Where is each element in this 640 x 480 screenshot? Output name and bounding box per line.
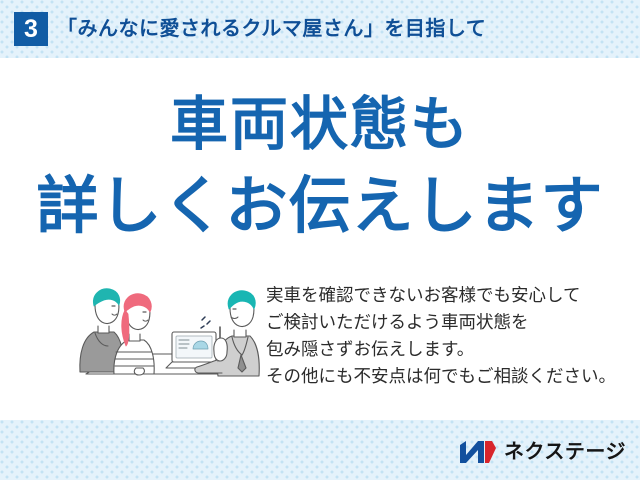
body-copy-line-1: 実車を確認できないお客様でも安心して bbox=[266, 282, 616, 309]
body-copy-line-3: 包み隠さずお伝えします。 bbox=[266, 336, 616, 363]
body-copy-line-2: ご検討いただけるよう車両状態を bbox=[266, 309, 616, 336]
section-number-badge: 3 bbox=[14, 12, 48, 46]
headline: 車両状態も 詳しくお伝えします bbox=[0, 96, 640, 238]
body-copy: 実車を確認できないお客様でも安心して ご検討いただけるよう車両状態を 包み隠さず… bbox=[266, 282, 616, 390]
section-title: 「みんなに愛されるクルマ屋さん」を目指して bbox=[57, 14, 486, 44]
body-copy-line-4: その他にも不安点は何でもご相談ください。 bbox=[266, 363, 616, 390]
nextage-n-mark-icon bbox=[459, 439, 497, 465]
consultation-illustration bbox=[62, 276, 262, 394]
headline-line-2: 詳しくお伝えします bbox=[0, 176, 640, 238]
promo-banner: 3 「みんなに愛されるクルマ屋さん」を目指して 車両状態も 詳しくお伝えします bbox=[0, 0, 640, 480]
brand-logo: ネクステージ bbox=[459, 438, 626, 466]
brand-name: ネクステージ bbox=[504, 439, 626, 465]
headline-line-1: 車両状態も bbox=[0, 96, 640, 154]
